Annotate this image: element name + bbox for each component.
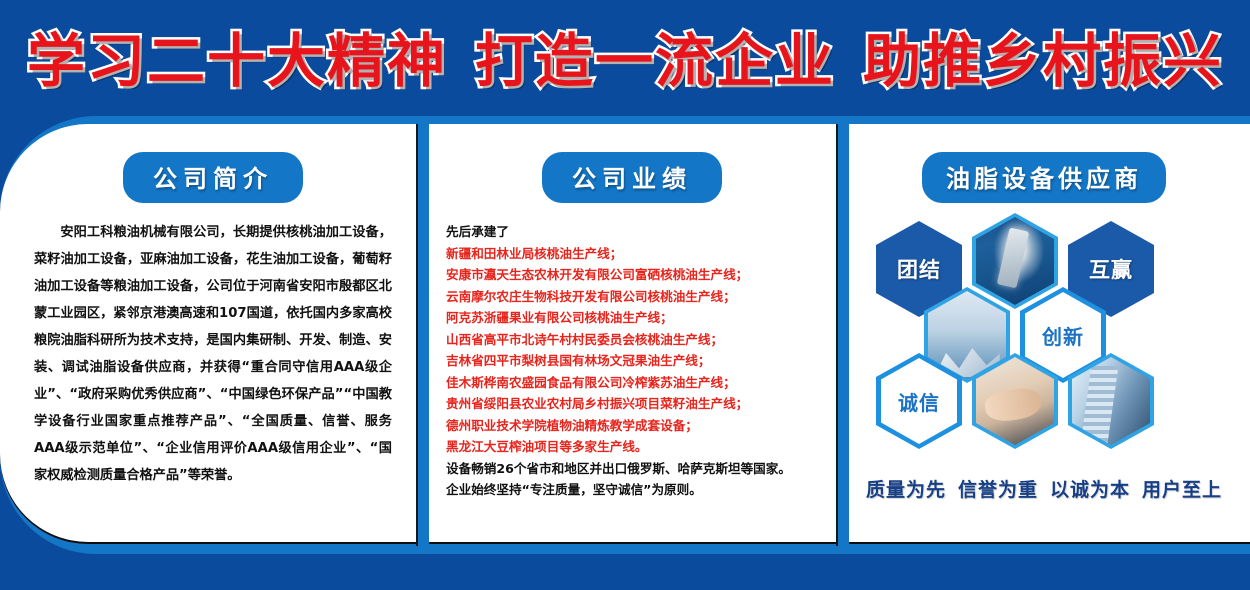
panel-company-intro: 公司简介 安阳工科粮油机械有限公司，长期提供核桃油加工设备，菜籽油加工设备，亚麻… — [0, 136, 418, 532]
performance-project-item: 佳木斯桦南农盛园食品有限公司冷榨紫苏油生产线； — [446, 372, 818, 394]
handshake-icon — [976, 357, 1054, 445]
panel-supplier-values: 油脂设备供应商 团结 互赢 — [838, 136, 1250, 532]
slogan-part-4: 用户至上 — [1142, 479, 1222, 501]
poster-board: 学习二十大精神打造一流企业助推乡村振兴 公司简介 安阳工科粮油机械有限公司，长期… — [0, 0, 1250, 590]
performance-footer-list: 设备畅销26个省市和地区并出口俄罗斯、哈萨克斯坦等国家。企业始终坚持“专注质量，… — [446, 458, 818, 501]
badge-company-intro: 公司简介 — [123, 152, 303, 203]
hex-label-huying: 互赢 — [1089, 254, 1133, 284]
values-slogan: 质量为先信誉为重以诚为本用户至上 — [852, 475, 1236, 502]
performance-footer-item: 设备畅销26个省市和地区并出口俄罗斯、哈萨克斯坦等国家。 — [446, 458, 818, 480]
hex-label-chengxin: 诚信 — [898, 387, 940, 416]
performance-project-item: 阿克苏浙疆果业有限公司核桃油生产线； — [446, 307, 818, 329]
performance-project-item: 德州职业技术学院植物油精炼教学成套设备； — [446, 415, 818, 437]
performance-footer-item: 企业始终坚持“专注质量，坚守诚信”为原则。 — [446, 479, 818, 501]
header-title: 学习二十大精神打造一流企业助推乡村振兴 — [13, 14, 1237, 98]
hex-label-tuanjie: 团结 — [897, 254, 941, 284]
badge-supplier: 油脂设备供应商 — [922, 152, 1166, 203]
content-stage: 公司简介 安阳工科粮油机械有限公司，长期提供核桃油加工设备，菜籽油加工设备，亚麻… — [0, 124, 1250, 542]
slogan-part-2: 信誉为重 — [958, 479, 1038, 501]
hex-label-chuangxin: 创新 — [1042, 321, 1084, 350]
performance-project-item: 安康市瀛天生态农林开发有限公司富硒核桃油生产线； — [446, 264, 818, 286]
panel-company-performance: 公司业绩 先后承建了 新疆和田林业局核桃油生产线；安康市瀛天生态农林开发有限公司… — [418, 136, 838, 532]
header-segment-2: 打造一流企业 — [475, 27, 835, 95]
slogan-part-3: 以诚为本 — [1050, 479, 1130, 501]
aircraft-carrier-icon — [976, 217, 1054, 305]
performance-project-item: 贵州省绥阳县农业农村局乡村振兴项目菜籽油生产线； — [446, 393, 818, 415]
header-segment-3: 助推乡村振兴 — [863, 27, 1223, 95]
skyscraper-icon — [1072, 357, 1150, 445]
panel-row: 公司简介 安阳工科粮油机械有限公司，长期提供核桃油加工设备，菜籽油加工设备，亚麻… — [0, 136, 1250, 532]
content-stage-wrapper: 公司简介 安阳工科粮油机械有限公司，长期提供核桃油加工设备，菜籽油加工设备，亚麻… — [0, 116, 1250, 554]
performance-project-item: 新疆和田林业局核桃油生产线； — [446, 243, 818, 265]
header-segment-1: 学习二十大精神 — [27, 27, 447, 95]
slogan-part-1: 质量为先 — [866, 479, 946, 501]
performance-project-item: 山西省高平市北诗午村村民委员会核桃油生产线； — [446, 329, 818, 351]
performance-project-list: 新疆和田林业局核桃油生产线；安康市瀛天生态农林开发有限公司富硒核桃油生产线；云南… — [446, 243, 818, 458]
hex-chengxin-inner: 诚信 — [881, 358, 957, 444]
company-intro-text: 安阳工科粮油机械有限公司，长期提供核桃油加工设备，菜籽油加工设备，亚麻油加工设备… — [34, 219, 392, 489]
badge-company-performance: 公司业绩 — [542, 152, 722, 203]
performance-body: 先后承建了 新疆和田林业局核桃油生产线；安康市瀛天生态农林开发有限公司富硒核桃油… — [446, 221, 818, 501]
performance-project-item: 吉林省四平市梨树县国有林场文冠果油生产线； — [446, 350, 818, 372]
hex-image-aircraft-carrier — [972, 213, 1058, 309]
performance-project-item: 云南摩尔农庄生物科技开发有限公司核桃油生产线； — [446, 286, 818, 308]
performance-project-item: 黑龙江大豆榨油项目等多家生产线。 — [446, 436, 818, 458]
poster-header: 学习二十大精神打造一流企业助推乡村振兴 — [0, 0, 1250, 112]
performance-intro: 先后承建了 — [446, 221, 818, 243]
hexagon-cluster: 团结 互赢 创新 — [852, 213, 1236, 463]
